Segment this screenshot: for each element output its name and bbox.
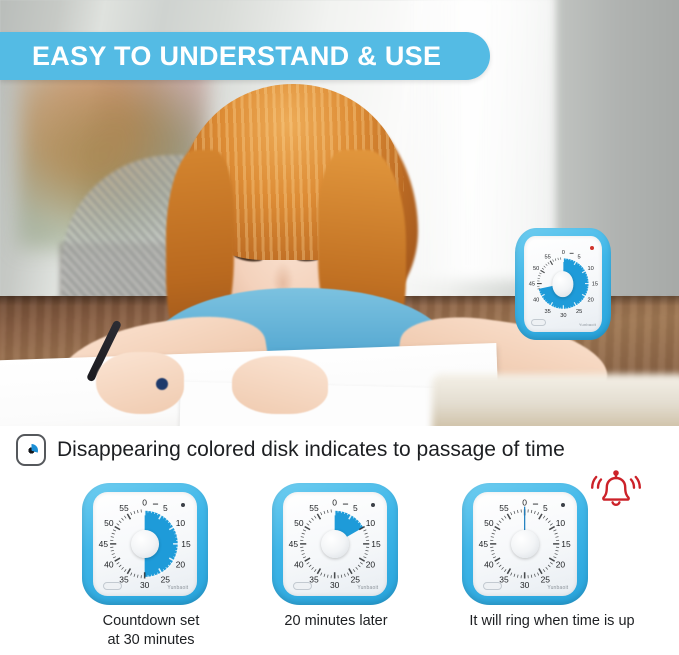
svg-text:25: 25 xyxy=(161,575,171,585)
status-led xyxy=(561,503,565,507)
status-led xyxy=(181,503,185,507)
svg-text:40: 40 xyxy=(484,560,494,570)
brand-label: Yunbaoit xyxy=(579,322,596,327)
svg-text:15: 15 xyxy=(562,539,572,549)
caption-timer-1: Countdown set at 30 minutes xyxy=(60,612,242,651)
svg-text:50: 50 xyxy=(533,266,539,272)
timer-knob xyxy=(552,271,573,297)
svg-text:45: 45 xyxy=(528,282,534,288)
svg-text:0: 0 xyxy=(143,498,148,508)
svg-text:40: 40 xyxy=(533,298,539,304)
svg-text:55: 55 xyxy=(310,503,320,513)
open-book xyxy=(432,374,679,426)
svg-text:5: 5 xyxy=(353,503,358,513)
svg-text:50: 50 xyxy=(484,518,494,528)
status-led xyxy=(590,246,594,250)
timer-disk-icon xyxy=(16,434,46,466)
svg-text:10: 10 xyxy=(587,266,593,272)
svg-text:45: 45 xyxy=(99,539,109,549)
timer-switch xyxy=(293,582,313,589)
svg-text:0: 0 xyxy=(333,498,338,508)
pen-tip xyxy=(156,378,168,390)
svg-text:40: 40 xyxy=(104,560,114,570)
svg-text:25: 25 xyxy=(576,309,582,315)
hand-left xyxy=(96,352,184,414)
svg-text:5: 5 xyxy=(163,503,168,513)
brand-label: Yunbaoit xyxy=(357,585,378,591)
svg-text:35: 35 xyxy=(544,309,550,315)
svg-text:55: 55 xyxy=(544,255,550,261)
timer-knob xyxy=(131,530,159,558)
svg-text:20: 20 xyxy=(366,560,376,570)
headline-banner: EASY TO UNDERSTAND & USE xyxy=(0,32,490,80)
svg-text:15: 15 xyxy=(182,539,192,549)
svg-text:10: 10 xyxy=(176,518,186,528)
svg-text:30: 30 xyxy=(330,580,340,590)
svg-text:25: 25 xyxy=(541,575,551,585)
svg-text:50: 50 xyxy=(104,518,114,528)
headline-text: EASY TO UNDERSTAND & USE xyxy=(0,41,441,72)
svg-text:20: 20 xyxy=(587,298,593,304)
brand-label: Yunbaoit xyxy=(547,585,568,591)
svg-text:55: 55 xyxy=(120,503,130,513)
caption-timer-2: 20 minutes later xyxy=(252,612,420,631)
alarm-bell-icon xyxy=(588,466,644,514)
hand-right xyxy=(232,356,328,414)
svg-text:30: 30 xyxy=(140,580,150,590)
timer-10-minutes: 0510152025303540455055 Yunbaoit xyxy=(272,483,398,605)
timer-face: 0510152025303540455055 Yunbaoit xyxy=(473,492,576,596)
timer-30-minutes: 0510152025303540455055 Yunbaoit xyxy=(82,483,208,605)
timer-face: 0510152025303540455055 Yunbaoit xyxy=(93,492,196,596)
svg-text:40: 40 xyxy=(294,560,304,570)
feature-header: Disappearing colored disk indicates to p… xyxy=(16,434,565,466)
svg-text:10: 10 xyxy=(366,518,376,528)
svg-text:20: 20 xyxy=(556,560,566,570)
timer-switch xyxy=(103,582,123,589)
svg-text:50: 50 xyxy=(294,518,304,528)
brand-label: Yunbaoit xyxy=(167,585,188,591)
svg-text:45: 45 xyxy=(289,539,299,549)
svg-text:20: 20 xyxy=(176,560,186,570)
timer-time-up: 0510152025303540455055 Yunbaoit xyxy=(462,483,588,605)
timer-switch xyxy=(483,582,503,589)
feature-title: Disappearing colored disk indicates to p… xyxy=(57,438,565,462)
svg-text:45: 45 xyxy=(479,539,489,549)
svg-text:30: 30 xyxy=(560,314,566,320)
svg-text:55: 55 xyxy=(500,503,510,513)
svg-text:15: 15 xyxy=(372,539,382,549)
svg-text:10: 10 xyxy=(556,518,566,528)
svg-text:15: 15 xyxy=(591,282,597,288)
svg-text:5: 5 xyxy=(577,255,580,261)
status-led xyxy=(371,503,375,507)
svg-text:0: 0 xyxy=(523,498,528,508)
visual-timer-on-table: 0510152025303540455055 Yunbaoit xyxy=(515,228,611,340)
timer-knob xyxy=(511,530,539,558)
svg-text:5: 5 xyxy=(543,503,548,513)
timer-knob xyxy=(321,530,349,558)
timer-face: 0510152025303540455055 Yunbaoit xyxy=(524,236,603,331)
timer-switch xyxy=(531,319,546,326)
svg-text:0: 0 xyxy=(561,251,564,257)
svg-text:30: 30 xyxy=(520,580,530,590)
timer-face: 0510152025303540455055 Yunbaoit xyxy=(283,492,386,596)
caption-timer-3: It will ring when time is up xyxy=(428,612,676,631)
svg-text:25: 25 xyxy=(351,575,361,585)
